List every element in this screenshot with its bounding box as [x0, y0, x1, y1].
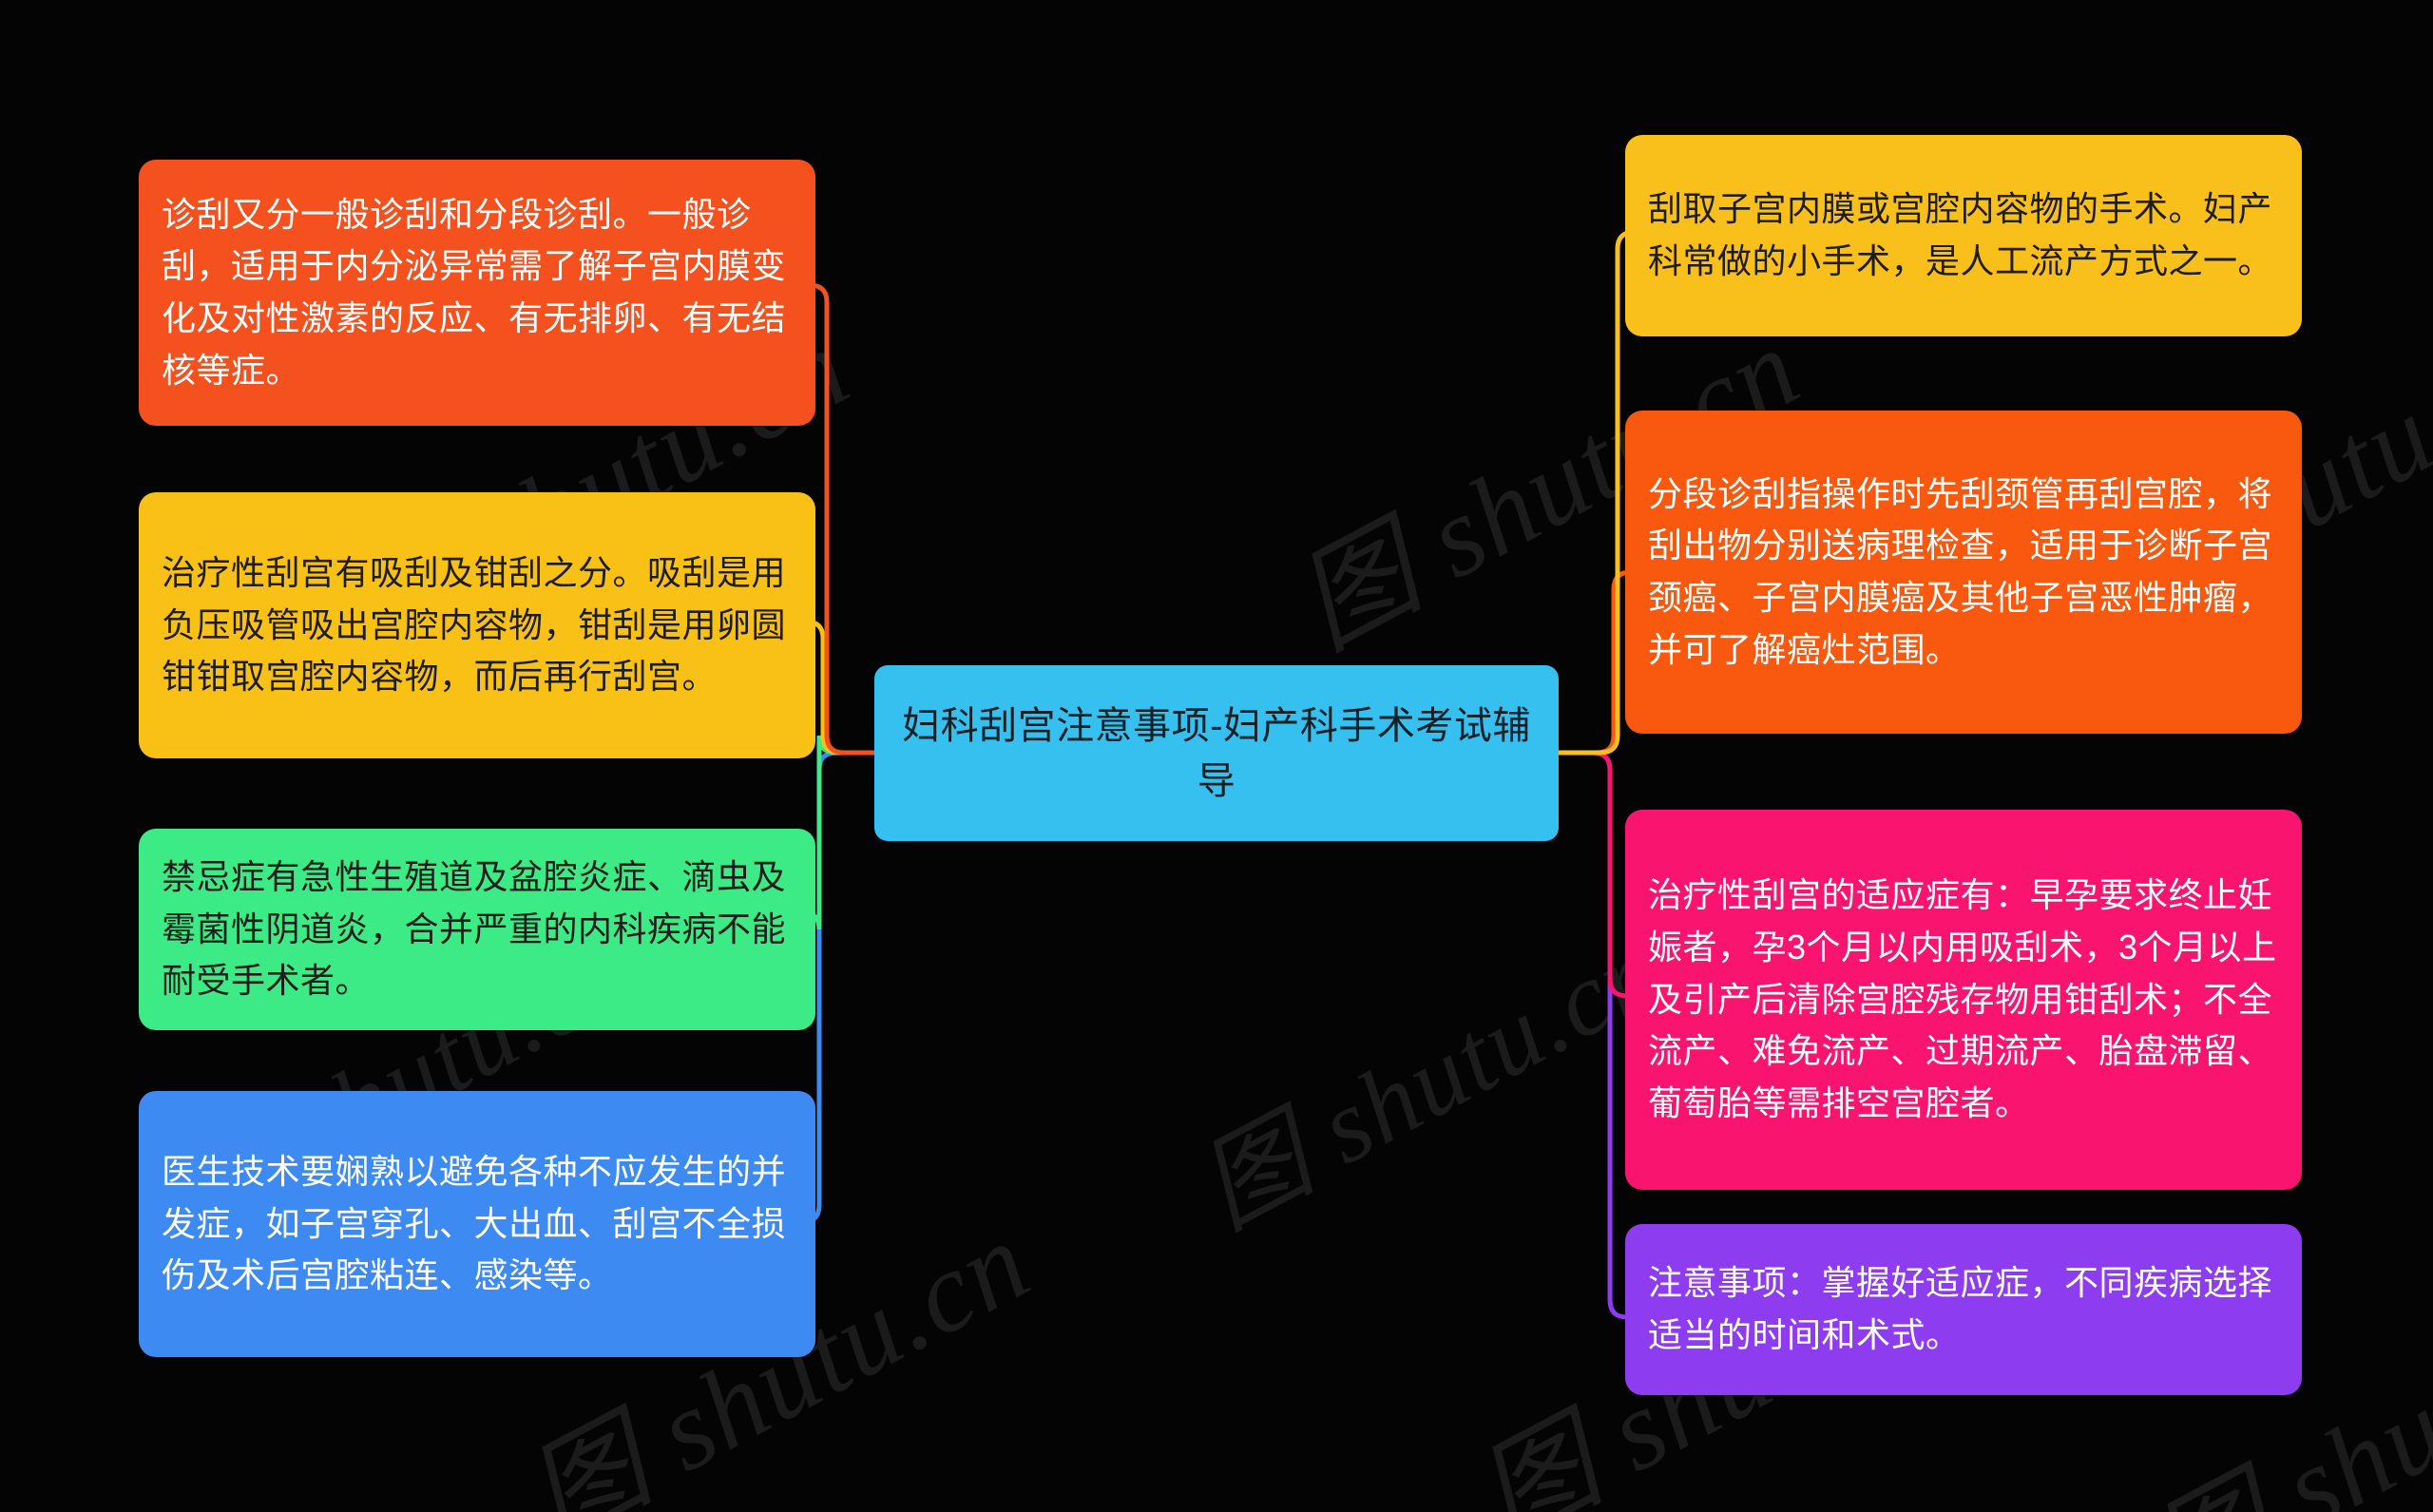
left-card-3-label: 禁忌症有急性生殖道及盆腔炎症、滴虫及霉菌性阴道炎，合并严重的内科疾病不能耐受手术…	[162, 852, 793, 1007]
root-node-label: 妇科刮宫注意事项-妇产科手术考试辅导	[897, 699, 1536, 809]
right-card-3-label: 治疗性刮宫的适应症有：早孕要求终止妊娠者，孕3个月以内用吸刮术，3个月以上及引产…	[1648, 870, 2279, 1130]
left-card-2-label: 治疗性刮宫有吸刮及钳刮之分。吸刮是用负压吸管吸出宫腔内容物，钳刮是用卵圆钳钳取宫…	[162, 547, 793, 703]
right-card-4[interactable]: 注意事项：掌握好适应症，不同疾病选择适当的时间和术式。	[1625, 1224, 2302, 1395]
root-node[interactable]: 妇科刮宫注意事项-妇产科手术考试辅导	[874, 665, 1559, 841]
right-card-1[interactable]: 刮取子宫内膜或宫腔内容物的手术。妇产科常做的小手术，是人工流产方式之一。	[1625, 135, 2302, 336]
right-card-1-label: 刮取子宫内膜或宫腔内容物的手术。妇产科常做的小手术，是人工流产方式之一。	[1648, 183, 2279, 287]
left-card-4-label: 医生技术要娴熟以避免各种不应发生的并发症，如子宫穿孔、大出血、刮宫不全损伤及术后…	[162, 1146, 793, 1302]
left-card-3[interactable]: 禁忌症有急性生殖道及盆腔炎症、滴虫及霉菌性阴道炎，合并严重的内科疾病不能耐受手术…	[139, 829, 815, 1030]
left-card-2[interactable]: 治疗性刮宫有吸刮及钳刮之分。吸刮是用负压吸管吸出宫腔内容物，钳刮是用卵圆钳钳取宫…	[139, 492, 815, 758]
right-card-3[interactable]: 治疗性刮宫的适应症有：早孕要求终止妊娠者，孕3个月以内用吸刮术，3个月以上及引产…	[1625, 810, 2302, 1190]
left-card-1-label: 诊刮又分一般诊刮和分段诊刮。一般诊刮，适用于内分泌异常需了解子宫内膜变化及对性激…	[162, 189, 793, 397]
right-card-4-label: 注意事项：掌握好适应症，不同疾病选择适当的时间和术式。	[1648, 1257, 2279, 1361]
right-card-2-label: 分段诊刮指操作时先刮颈管再刮宫腔，将刮出物分别送病理检查，适用于诊断子宫颈癌、子…	[1648, 469, 2279, 677]
left-card-4[interactable]: 医生技术要娴熟以避免各种不应发生的并发症，如子宫穿孔、大出血、刮宫不全损伤及术后…	[139, 1091, 815, 1357]
right-card-2[interactable]: 分段诊刮指操作时先刮颈管再刮宫腔，将刮出物分别送病理检查，适用于诊断子宫颈癌、子…	[1625, 411, 2302, 734]
left-card-1[interactable]: 诊刮又分一般诊刮和分段诊刮。一般诊刮，适用于内分泌异常需了解子宫内膜变化及对性激…	[139, 160, 815, 426]
mindmap-canvas: 图 shutu.cn图 shutu.cn图 shutu.cn图 shutu.cn…	[0, 0, 2433, 1512]
watermark-text: 图 shutu.cn	[1169, 886, 1683, 1255]
